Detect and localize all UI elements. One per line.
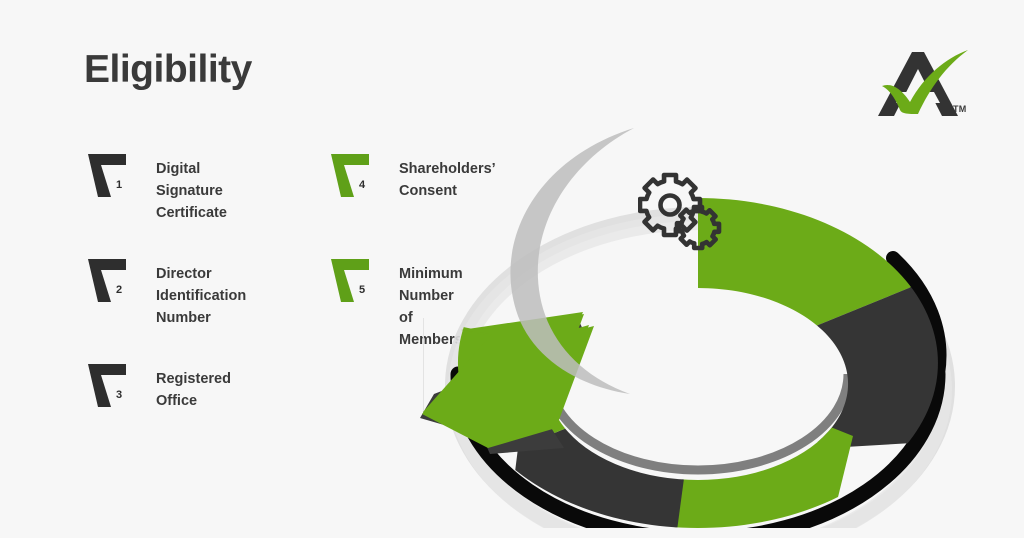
infographic-canvas: Eligibility TM 1 Digital Signature Certi…	[0, 0, 1024, 538]
item-label: Director Identification Number	[156, 263, 246, 329]
item-number: 1	[116, 179, 122, 191]
gears-icon	[638, 167, 724, 253]
corner-bracket-icon	[86, 362, 140, 410]
page-title: Eligibility	[84, 50, 252, 91]
corner-bracket-icon	[329, 257, 383, 305]
corner-bracket-icon	[329, 152, 383, 200]
item-number: 4	[359, 179, 365, 191]
corner-bracket-icon	[86, 257, 140, 305]
item-label: Registered Office	[156, 368, 231, 412]
item-number: 3	[116, 389, 122, 401]
item-number: 5	[359, 284, 365, 296]
ring-segment-green-bottom-right	[673, 374, 853, 528]
item-number: 2	[116, 284, 122, 296]
corner-bracket-icon	[86, 152, 140, 200]
item-label: Digital Signature Certificate	[156, 158, 227, 224]
trademark-symbol: TM	[953, 104, 967, 114]
